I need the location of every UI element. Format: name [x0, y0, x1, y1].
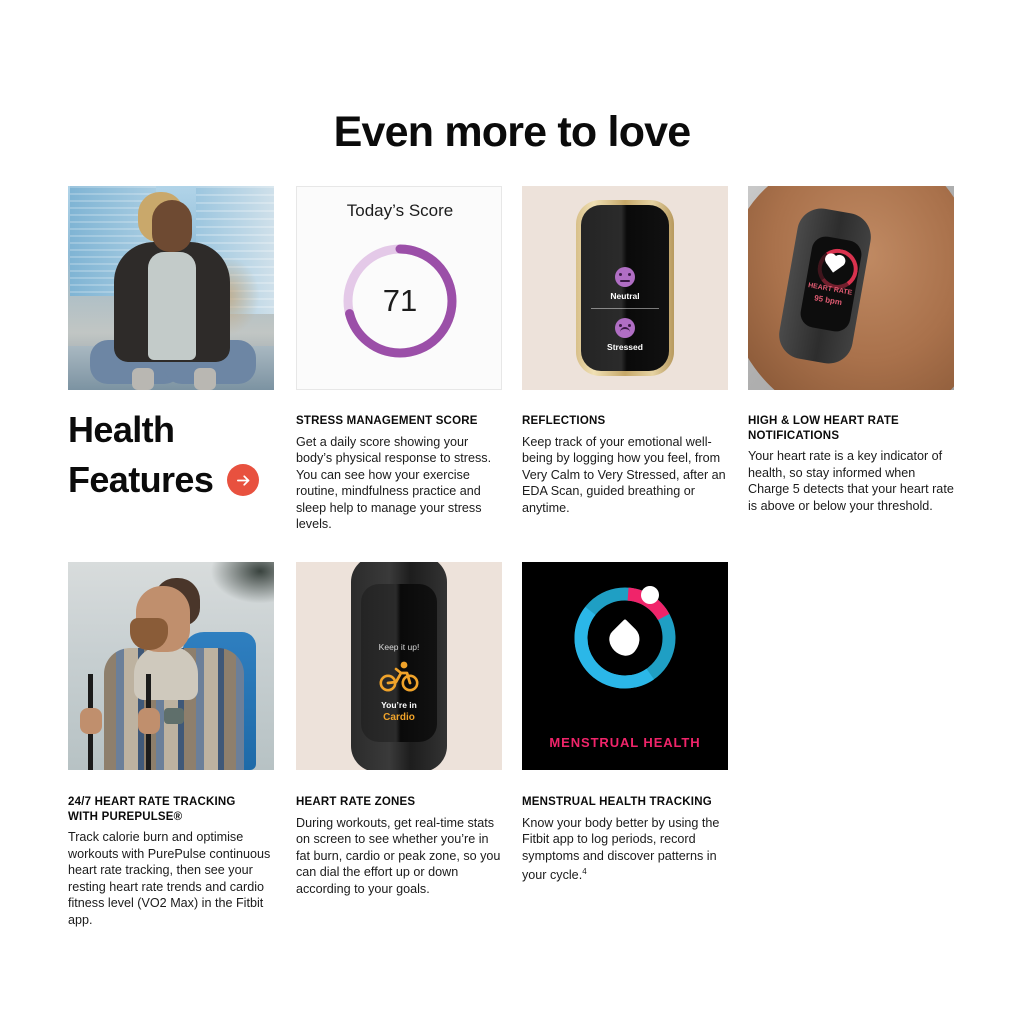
caption-24-7-heart-rate: 24/7 HEART RATE TRACKING WITH PUREPULSE®…	[68, 795, 274, 929]
caption-title: STRESS MANAGEMENT SCORE	[296, 414, 502, 429]
caption-body: Get a daily score showing your body’s ph…	[296, 434, 502, 534]
hand-right	[138, 708, 160, 734]
heading-line-2: Features	[68, 455, 213, 505]
mood-label-neutral: Neutral	[581, 291, 669, 301]
caption-body-text: Know your body better by using the Fitbi…	[522, 816, 719, 883]
mood-label-stressed: Stressed	[581, 342, 669, 352]
caption-body: During workouts, get real-time stats on …	[296, 815, 502, 898]
tracker-screen: Keep it up! You’re in Cardio	[361, 584, 437, 742]
caption-reflections: REFLECTIONS Keep track of your emotional…	[522, 414, 728, 516]
shirt	[148, 252, 196, 360]
page-title: Even more to love	[0, 108, 1024, 157]
footnote-marker: 4	[582, 867, 586, 876]
head	[152, 200, 192, 252]
caption-body: Your heart rate is a key indicator of he…	[748, 448, 954, 514]
caption-title: 24/7 HEART RATE TRACKING WITH PUREPULSE®	[68, 795, 274, 824]
caption-title: REFLECTIONS	[522, 414, 728, 429]
tracker-gold-frame: Neutral Stressed	[576, 200, 674, 376]
reflections-device-tile: Neutral Stressed	[522, 186, 728, 390]
caption-stress-management-score: STRESS MANAGEMENT SCORE Get a daily scor…	[296, 414, 502, 533]
caption-title: HIGH & LOW HEART RATE NOTIFICATIONS	[748, 414, 954, 443]
score-card-title: Today’s Score	[297, 201, 502, 221]
caption-body: Know your body better by using the Fitbi…	[522, 815, 728, 885]
caption-title-line-2: NOTIFICATIONS	[748, 430, 839, 442]
menstrual-health-label: MENSTRUAL HEALTH	[522, 735, 728, 750]
tracker-body: Keep it up! You’re in Cardio	[351, 562, 447, 770]
caption-title-line-2: WITH PUREPULSE®	[68, 811, 182, 823]
caption-title-line-1: HIGH & LOW HEART RATE	[748, 415, 899, 427]
meditation-photo-tile	[68, 186, 274, 390]
caption-title-line-1: 24/7 HEART RATE TRACKING	[68, 796, 236, 808]
hand-left	[80, 708, 102, 734]
heading-line-1: Health	[68, 405, 298, 455]
caption-heart-rate-zones: HEART RATE ZONES During workouts, get re…	[296, 795, 502, 897]
screen-encouragement: Keep it up!	[361, 642, 437, 652]
health-features-arrow-button[interactable]	[227, 464, 259, 496]
score-ring: 71	[340, 241, 460, 361]
health-features-heading: Health Features	[68, 405, 298, 505]
feature-grid-page: Even more to love Today’s Score 71	[0, 0, 1024, 1024]
screen-divider	[591, 308, 659, 309]
score-value: 71	[340, 241, 460, 361]
caption-body: Track calorie burn and optimise workouts…	[68, 829, 274, 929]
cycle-ring	[571, 584, 679, 692]
caption-title: HEART RATE ZONES	[296, 795, 502, 810]
caption-body: Keep track of your emotional well-being …	[522, 434, 728, 517]
tree-branch	[204, 562, 274, 608]
arrow-right-icon	[235, 472, 252, 489]
screen-zone-name: Cardio	[361, 712, 437, 723]
hiker-photo-tile	[68, 562, 274, 770]
sock-right	[194, 368, 216, 390]
caption-menstrual-health: MENSTRUAL HEALTH TRACKING Know your body…	[522, 795, 728, 884]
heart-rate-zones-device-tile: Keep it up! You’re in Cardio	[296, 562, 502, 770]
caption-title: MENSTRUAL HEALTH TRACKING	[522, 795, 728, 810]
sock-left	[132, 368, 154, 390]
cyclist-icon	[379, 660, 419, 692]
hood	[134, 646, 198, 700]
menstrual-health-tile: MENSTRUAL HEALTH	[522, 562, 728, 770]
tracker-screen: Neutral Stressed	[581, 205, 669, 371]
stressed-face-icon	[615, 318, 635, 338]
wrist-tracker	[164, 708, 184, 724]
wrist-heart-rate-photo-tile: HEART RATE 95 bpm	[748, 186, 954, 390]
neutral-face-icon	[615, 267, 635, 287]
screen-zone-prefix: You’re in	[361, 700, 437, 710]
ring-marker-dot	[641, 586, 659, 604]
caption-high-low-heart-rate: HIGH & LOW HEART RATE NOTIFICATIONS Your…	[748, 414, 954, 514]
todays-score-card: Today’s Score 71	[296, 186, 502, 390]
